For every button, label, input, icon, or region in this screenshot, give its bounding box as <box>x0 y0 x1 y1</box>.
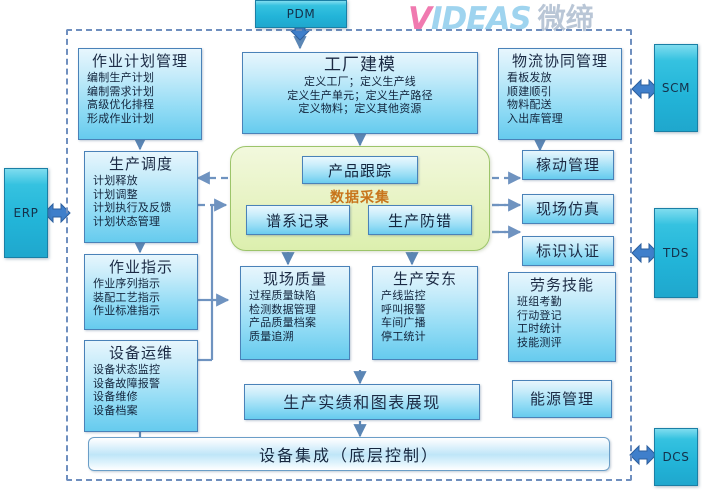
external-system-erp-label: ERP <box>14 206 39 220</box>
list-item: 技能测评 <box>517 336 615 350</box>
module-equipment-maintenance[interactable]: 设备运维 设备状态监控 设备故障报警 设备维修 设备档案 <box>84 340 198 432</box>
external-system-dcs[interactable]: DCS <box>654 428 698 486</box>
list-item: 设备维修 <box>93 390 197 404</box>
module-field-quality-items: 过程质量缺陷 检测数据管理 产品质量档案 质量追溯 <box>241 289 349 343</box>
module-production-plan-items: 编制生产计划 编制需求计划 高级优化排程 形成作业计划 <box>79 71 201 125</box>
module-energy-management-title: 能源管理 <box>530 391 594 408</box>
list-item: 设备状态监控 <box>93 363 197 377</box>
list-item: 计划执行及反馈 <box>93 201 197 215</box>
list-item: 顺建顺引 <box>507 85 621 99</box>
module-factory-modeling-items: 定义工厂；定义生产线 定义生产单元；定义生产路径 定义物料；定义其他资源 <box>243 75 477 116</box>
list-item: 设备故障报警 <box>93 377 197 391</box>
list-item: 质量追溯 <box>249 330 349 344</box>
module-logistics-collaboration-items: 看板发放 顺建顺引 物料配送 入出库管理 <box>499 71 621 125</box>
list-item: 作业标准指示 <box>93 304 197 318</box>
list-item: 检测数据管理 <box>249 303 349 317</box>
module-production-performance-chart[interactable]: 生产实绩和图表展现 <box>244 384 480 420</box>
module-work-instruction-items: 作业序列指示 装配工艺指示 作业标准指示 <box>85 277 197 318</box>
module-equipment-maintenance-items: 设备状态监控 设备故障报警 设备维修 设备档案 <box>85 363 197 417</box>
external-system-dcs-label: DCS <box>662 450 689 464</box>
list-item: 装配工艺指示 <box>93 291 197 305</box>
module-production-performance-chart-title: 生产实绩和图表展现 <box>283 394 441 411</box>
list-item: 高级优化排程 <box>87 98 201 112</box>
module-genealogy-record-label: 谱系记录 <box>266 210 330 231</box>
list-item: 计划状态管理 <box>93 215 197 229</box>
module-andon[interactable]: 生产安东 产线监控 呼叫报警 车间广播 停工统计 <box>372 266 478 360</box>
list-item: 作业序列指示 <box>93 277 197 291</box>
module-product-tracking-label: 产品跟踪 <box>328 160 392 181</box>
list-item: 编制需求计划 <box>87 85 201 99</box>
module-utilization-management[interactable]: 稼动管理 <box>522 150 614 180</box>
list-item: 行动登记 <box>517 309 615 323</box>
list-item: 产线监控 <box>381 289 477 303</box>
list-item: 定义工厂；定义生产线 <box>243 75 477 89</box>
external-system-pdm-label: PDM <box>287 7 316 21</box>
module-utilization-management-title: 稼动管理 <box>536 157 600 174</box>
module-shopfloor-simulation-title: 现场仿真 <box>536 201 600 218</box>
external-system-erp[interactable]: ERP <box>4 168 48 258</box>
list-item: 物料配送 <box>507 98 621 112</box>
list-item: 编制生产计划 <box>87 71 201 85</box>
list-item: 车间广播 <box>381 316 477 330</box>
external-system-tds-label: TDS <box>663 246 689 260</box>
module-logistics-collaboration[interactable]: 物流协同管理 看板发放 顺建顺引 物料配送 入出库管理 <box>498 48 622 140</box>
data-collection-tag: 数据采集 <box>310 187 410 207</box>
module-andon-title: 生产安东 <box>373 267 477 288</box>
list-item: 形成作业计划 <box>87 112 201 126</box>
module-labor-skill-items: 班组考勤 行动登记 工时统计 技能测评 <box>509 295 615 349</box>
list-item: 班组考勤 <box>517 295 615 309</box>
module-work-instruction-title: 作业指示 <box>85 255 197 276</box>
dcs-connector-arrow <box>630 444 656 466</box>
module-production-scheduling-items: 计划释放 计划调整 计划执行及反馈 计划状态管理 <box>85 174 197 228</box>
module-labor-skill[interactable]: 劳务技能 班组考勤 行动登记 工时统计 技能测评 <box>508 272 616 362</box>
diagram-canvas: V IDEAS 微缔 <box>0 0 702 490</box>
list-item: 计划释放 <box>93 174 197 188</box>
module-field-quality[interactable]: 现场质量 过程质量缺陷 检测数据管理 产品质量档案 质量追溯 <box>240 266 350 360</box>
module-field-quality-title: 现场质量 <box>241 267 349 288</box>
module-andon-items: 产线监控 呼叫报警 车间广播 停工统计 <box>373 289 477 343</box>
module-labor-skill-title: 劳务技能 <box>509 273 615 294</box>
list-item: 停工统计 <box>381 330 477 344</box>
module-production-scheduling[interactable]: 生产调度 计划释放 计划调整 计划执行及反馈 计划状态管理 <box>84 151 198 243</box>
module-genealogy-record[interactable]: 谱系记录 <box>246 205 350 235</box>
module-logistics-collaboration-title: 物流协同管理 <box>499 49 621 70</box>
external-system-scm[interactable]: SCM <box>654 44 698 132</box>
module-production-plan[interactable]: 作业计划管理 编制生产计划 编制需求计划 高级优化排程 形成作业计划 <box>78 48 202 140</box>
module-energy-management[interactable]: 能源管理 <box>512 380 612 418</box>
list-item: 计划调整 <box>93 188 197 202</box>
external-system-scm-label: SCM <box>662 81 690 95</box>
module-production-plan-title: 作业计划管理 <box>79 49 201 70</box>
list-item: 入出库管理 <box>507 112 621 126</box>
external-system-tds[interactable]: TDS <box>654 208 698 298</box>
module-work-instruction[interactable]: 作业指示 作业序列指示 装配工艺指示 作业标准指示 <box>84 254 198 330</box>
module-shopfloor-simulation[interactable]: 现场仿真 <box>522 194 614 224</box>
module-error-proofing[interactable]: 生产防错 <box>368 205 472 235</box>
list-item: 过程质量缺陷 <box>249 289 349 303</box>
module-equipment-integration-label: 设备集成（底层控制） <box>259 442 439 466</box>
module-identification-certification[interactable]: 标识认证 <box>522 236 614 266</box>
module-product-tracking[interactable]: 产品跟踪 <box>302 156 418 184</box>
list-item: 看板发放 <box>507 71 621 85</box>
module-production-scheduling-title: 生产调度 <box>85 152 197 173</box>
list-item: 产品质量档案 <box>249 316 349 330</box>
list-item: 呼叫报警 <box>381 303 477 317</box>
module-equipment-maintenance-title: 设备运维 <box>85 341 197 362</box>
external-system-pdm[interactable]: PDM <box>255 0 347 28</box>
module-identification-certification-title: 标识认证 <box>536 243 600 260</box>
list-item: 定义物料；定义其他资源 <box>243 102 477 116</box>
list-item: 定义生产单元；定义生产路径 <box>243 89 477 103</box>
module-factory-modeling-title: 工厂建模 <box>243 53 477 74</box>
module-error-proofing-label: 生产防错 <box>388 210 452 231</box>
list-item: 设备档案 <box>93 404 197 418</box>
list-item: 工时统计 <box>517 322 615 336</box>
module-factory-modeling[interactable]: 工厂建模 定义工厂；定义生产线 定义生产单元；定义生产路径 定义物料；定义其他资… <box>242 52 478 134</box>
module-equipment-integration[interactable]: 设备集成（底层控制） <box>88 437 610 471</box>
